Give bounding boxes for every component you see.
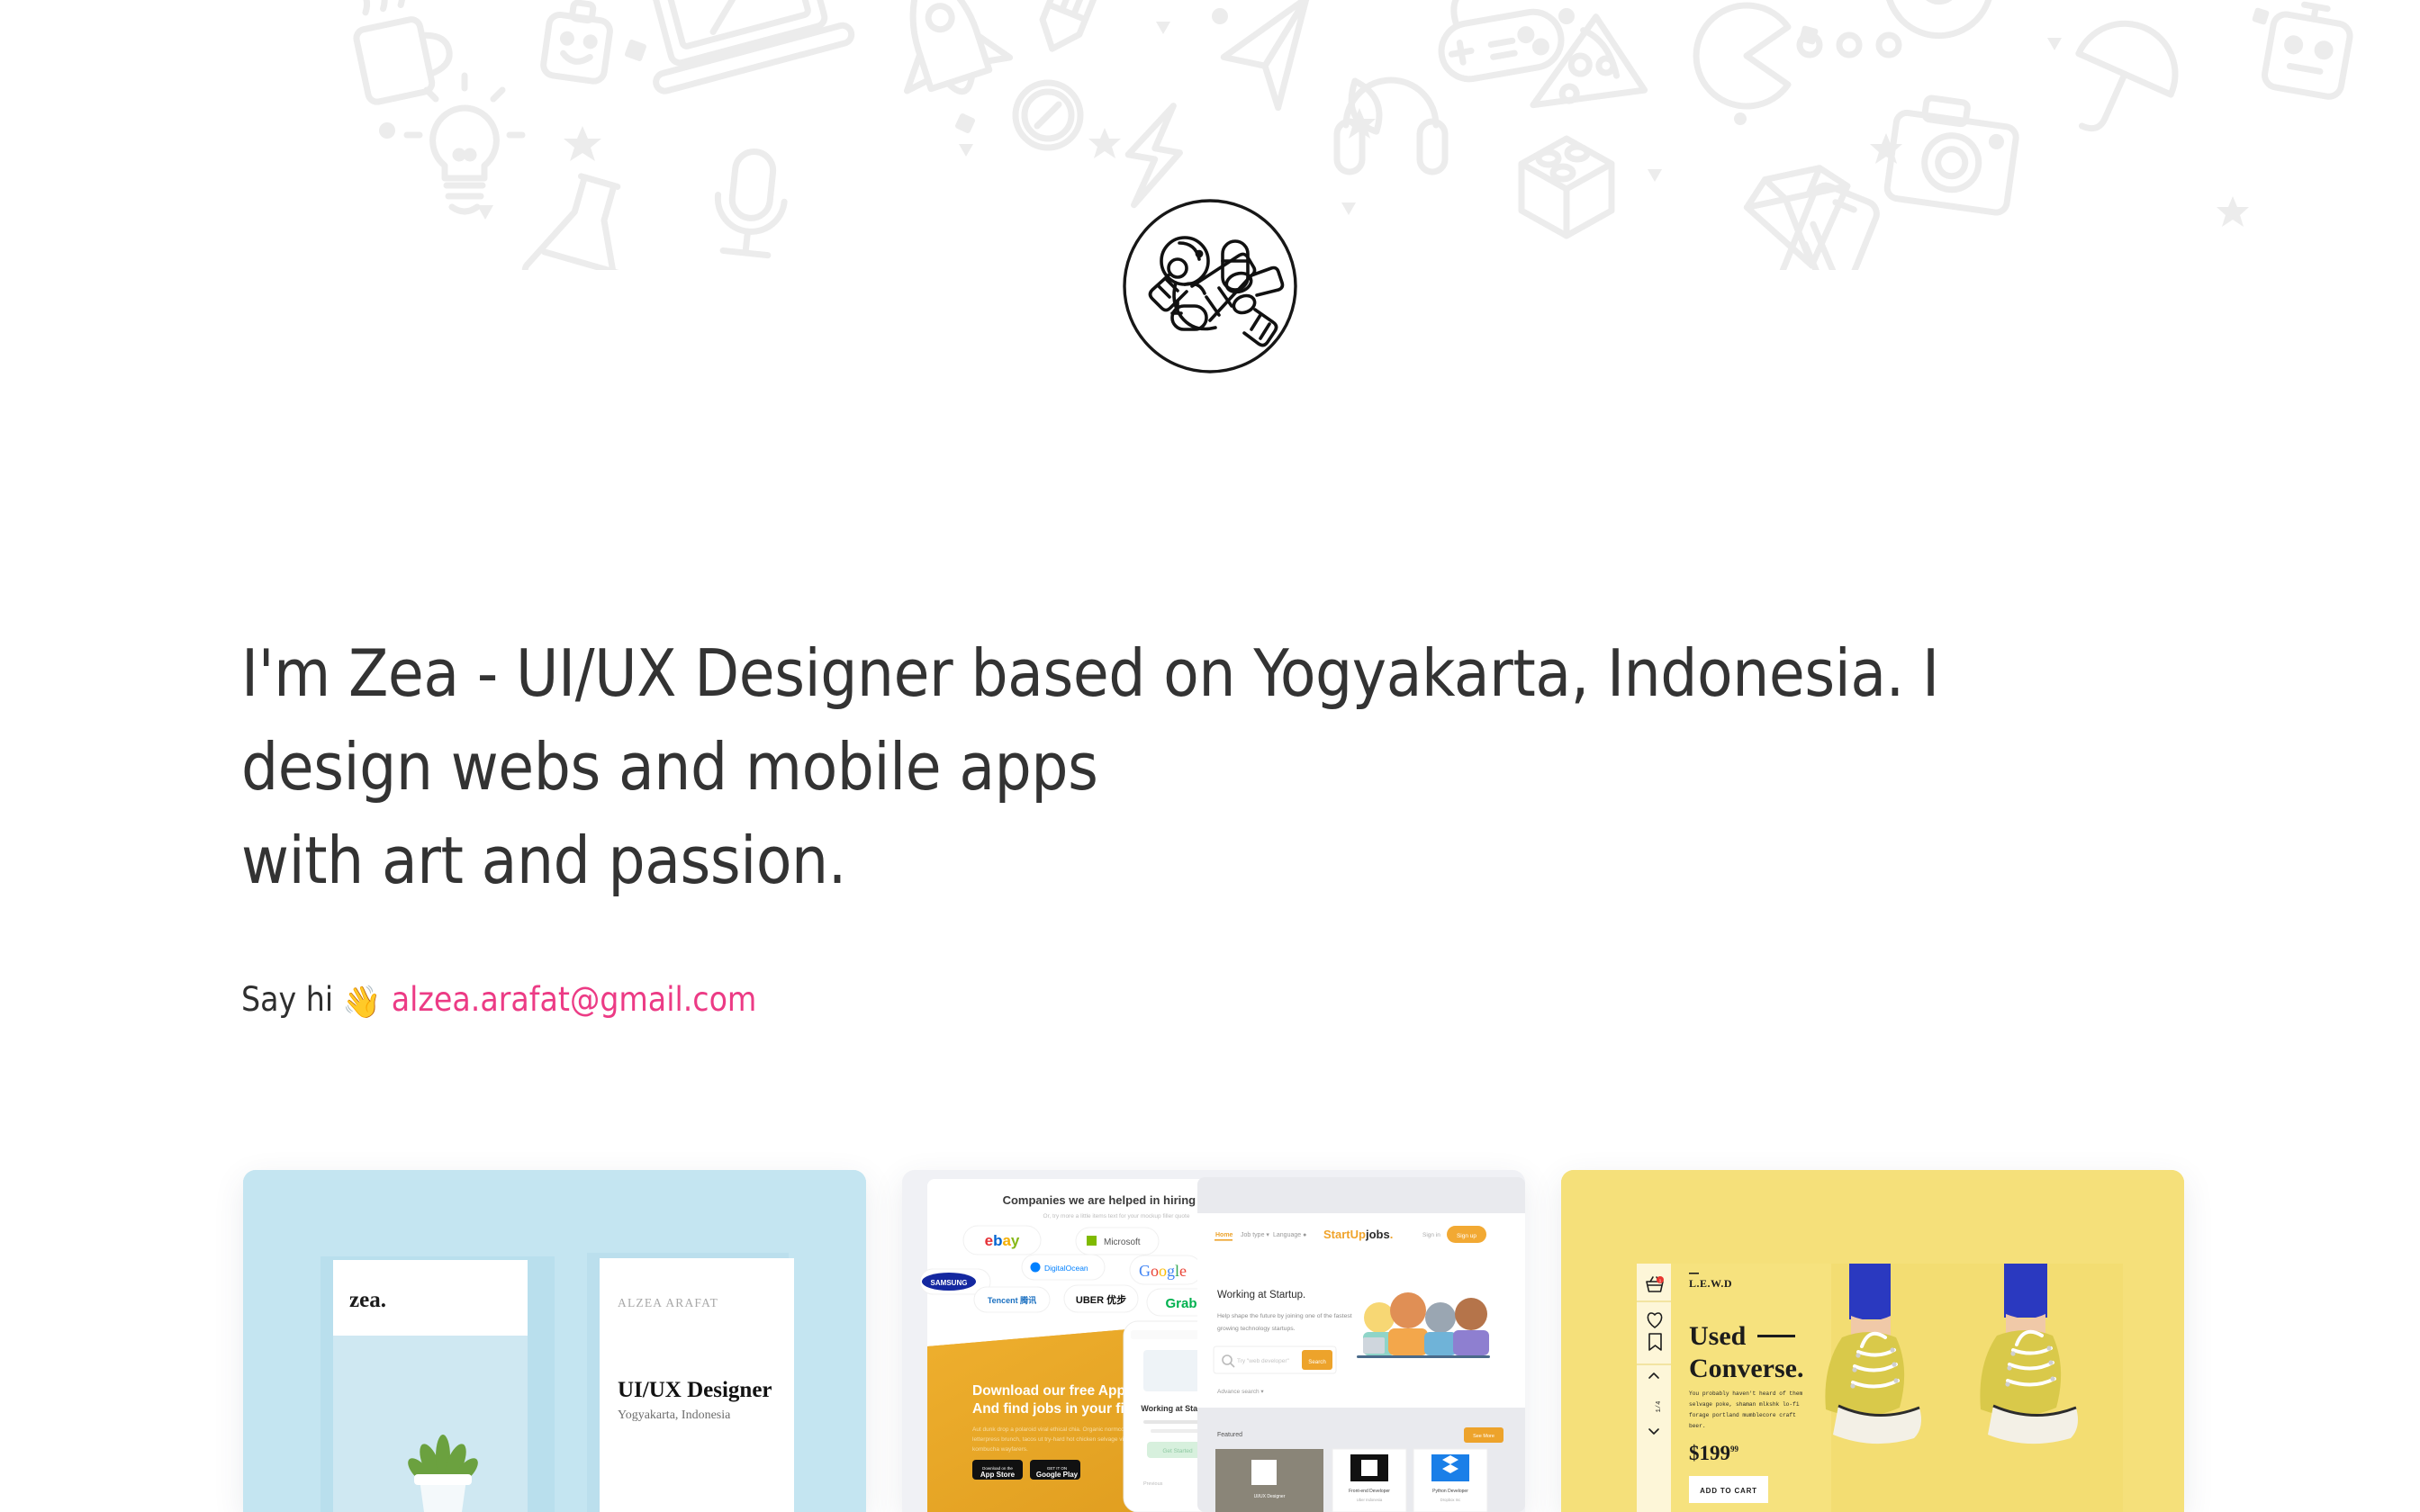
section-heading: Companies we are helped in hiring talent — [1003, 1193, 1231, 1207]
pagination: 1/4 — [1656, 1401, 1663, 1413]
say-hi-label: Say hi — [241, 978, 333, 1021]
svg-text:beer.: beer. — [1689, 1423, 1706, 1429]
rocket-icon — [873, 0, 1016, 108]
svg-text:Microsoft: Microsoft — [1104, 1237, 1141, 1247]
lightning-bolt-icon — [1120, 100, 1187, 211]
svg-text:UBER 优步: UBER 优步 — [1076, 1293, 1126, 1306]
coffee-mug-icon — [347, 0, 456, 103]
cd-disc-icon — [1882, 0, 1996, 40]
page-title: I'm Zea - UI/UX Designer based on Yogyak… — [241, 626, 2096, 907]
svg-text:Home: Home — [1215, 1232, 1233, 1238]
svg-text:See More: See More — [1473, 1434, 1494, 1439]
svg-text:Google Play: Google Play — [1036, 1471, 1079, 1479]
decorative-marks — [379, 7, 2270, 227]
project-card-lewd-ecommerce[interactable]: 1 1/4 L.E.W.D Used Converse. You probabl… — [1561, 1170, 2184, 1512]
project-card-zea-branding[interactable]: zea. ALZEA ARAFAT UI/UX Design — [243, 1170, 866, 1512]
card-role: UI/UX Designer — [618, 1378, 772, 1402]
paper-plane-icon — [1217, 0, 1321, 114]
featured-label: Featured — [1217, 1432, 1242, 1438]
svg-text:Language ●: Language ● — [1273, 1232, 1306, 1238]
astronaut-logo[interactable] — [1120, 196, 1300, 376]
svg-text:ADD TO CART: ADD TO CART — [1700, 1487, 1757, 1495]
svg-text:Get Started: Get Started — [1162, 1448, 1193, 1454]
svg-text:App Store: App Store — [980, 1471, 1016, 1479]
svg-text:growing technology startups.: growing technology startups. — [1217, 1326, 1296, 1332]
featured-jobs: UI/UX Designer Front-end Developer Uber … — [1215, 1449, 1487, 1512]
svg-text:L.E.W.D: L.E.W.D — [1689, 1277, 1732, 1290]
robot-icon — [2262, 0, 2353, 98]
section-subheading: Or, try more a little items text for you… — [1043, 1213, 1190, 1219]
project-card-startupjobs[interactable]: Companies we are helped in hiring talent… — [902, 1170, 1525, 1512]
svg-text:Google: Google — [1139, 1262, 1187, 1280]
lightbulb-icon — [407, 76, 522, 211]
pacman-icon — [1696, 5, 1788, 106]
flask-icon — [523, 168, 645, 270]
svg-text:Sign in: Sign in — [1422, 1232, 1440, 1238]
contact-row: Say hi 👋 alzea.arafat@gmail.com — [241, 978, 756, 1021]
svg-text:forage portland mumblecore cra: forage portland mumblecore craft — [1689, 1412, 1796, 1418]
laptop-icon — [626, 0, 853, 93]
diamond-icon — [1742, 163, 1862, 270]
svg-text:Previous: Previous — [1143, 1481, 1163, 1487]
card-name: ALZEA ARAFAT — [618, 1296, 718, 1309]
gamepad-icon — [1431, 0, 1566, 84]
pizza-icon — [1533, 7, 1659, 130]
promo-title-1: Download our free App, — [972, 1383, 1129, 1399]
microphone-icon — [712, 148, 789, 256]
product-title-1: Used — [1689, 1321, 1747, 1351]
svg-text:Aut dunk drop a polaroid viral: Aut dunk drop a polaroid viral ethical c… — [972, 1426, 1130, 1433]
pencil-icon — [1034, 0, 1116, 56]
svg-text:Grab: Grab — [1165, 1296, 1196, 1311]
svg-text:Dropbox Inc: Dropbox Inc — [1440, 1498, 1461, 1502]
project-cards-row: zea. ALZEA ARAFAT UI/UX Design — [0, 1170, 2420, 1512]
svg-text:Try "web developer": Try "web developer" — [1237, 1358, 1290, 1364]
pacman-dots-icon — [1800, 35, 1899, 55]
umbrella-icon — [2053, 7, 2191, 153]
svg-text:Python Developer: Python Developer — [1432, 1489, 1468, 1494]
lego-head-icon — [542, 0, 613, 83]
svg-text:letterpress brunch, tacos ut t: letterpress brunch, tacos ut try-hard ho… — [972, 1436, 1131, 1443]
svg-text:UI/UX Designer: UI/UX Designer — [1254, 1494, 1286, 1499]
smartphone-icon — [1772, 182, 1881, 270]
svg-text:kombucha wayfarers.: kombucha wayfarers. — [972, 1446, 1028, 1453]
product-title-2: Converse. — [1689, 1354, 1803, 1383]
svg-text:Uber Indonesia: Uber Indonesia — [1357, 1498, 1383, 1502]
svg-text:DigitalOcean: DigitalOcean — [1044, 1264, 1088, 1273]
headphones-icon — [1337, 80, 1445, 172]
compass-icon — [1016, 83, 1080, 148]
lego-brick-icon — [1522, 139, 1612, 236]
svg-text:Tencent 腾讯: Tencent 腾讯 — [988, 1295, 1036, 1305]
svg-text:SAMSUNG: SAMSUNG — [931, 1279, 968, 1287]
svg-text:Job type ▾: Job type ▾ — [1241, 1232, 1269, 1238]
portfolio-page: I'm Zea - UI/UX Designer based on Yogyak… — [0, 0, 2420, 1512]
svg-text:ebay: ebay — [985, 1232, 1020, 1249]
email-link[interactable]: alzea.arafat@gmail.com — [392, 978, 757, 1021]
sneakers-photo — [1825, 1264, 2123, 1512]
svg-text:Front-end Developer: Front-end Developer — [1349, 1489, 1390, 1494]
site-logo: StartUpjobs. — [1323, 1228, 1393, 1241]
search-box: Try "web developer" Search — [1214, 1346, 1336, 1373]
svg-text:selvage poke, shaman mlkshk lo: selvage poke, shaman mlkshk lo-fi — [1689, 1401, 1800, 1408]
waving-hand-icon: 👋 — [342, 986, 382, 1018]
camera-icon — [1886, 94, 2020, 214]
leaf-icon — [1342, 81, 1389, 131]
svg-text:Sign up: Sign up — [1457, 1233, 1476, 1239]
svg-text:Search: Search — [1308, 1359, 1326, 1365]
card-location: Yogyakarta, Indonesia — [618, 1408, 731, 1422]
svg-text:You probably haven't heard of: You probably haven't heard of them — [1689, 1390, 1803, 1397]
brand-mark: zea. — [349, 1288, 386, 1312]
svg-text:Advance search ▾: Advance search ▾ — [1217, 1389, 1264, 1395]
svg-text:Help shape the future by joini: Help shape the future by joining one of … — [1217, 1313, 1352, 1319]
hero-title: Working at Startup. — [1217, 1290, 1305, 1300]
